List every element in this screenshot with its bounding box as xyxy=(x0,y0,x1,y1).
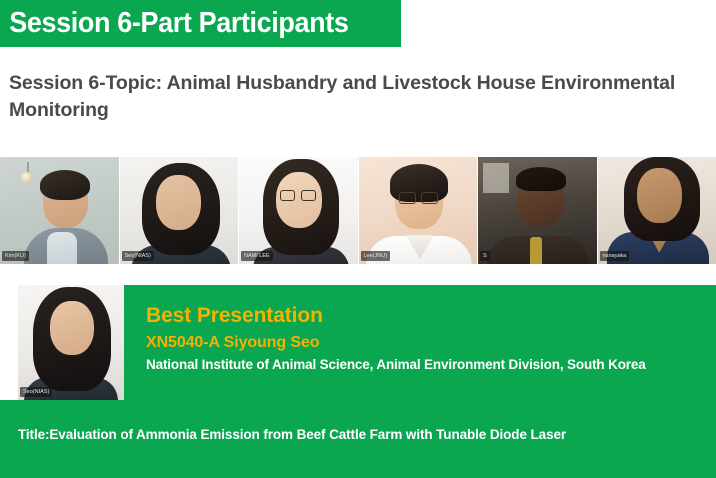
award-text-block: Best Presentation XN5040-A Siyoung Seo N… xyxy=(146,302,706,375)
headset-band xyxy=(154,173,208,187)
person-hair xyxy=(516,167,566,191)
eyeglass-left xyxy=(399,192,416,204)
participant-name-tag: Kim(KU) xyxy=(2,251,29,261)
winner-name-tag: Seo(NIAS) xyxy=(20,387,52,397)
participant-tile[interactable]: Seo(NIAS) xyxy=(120,157,239,264)
eyeglass-left xyxy=(280,190,295,201)
slide-canvas: Session 6-Part Participants Session 6-To… xyxy=(0,0,716,478)
participant-tile[interactable]: S xyxy=(478,157,597,264)
participant-tile[interactable]: Kim(KU) xyxy=(0,157,119,264)
award-presenter: XN5040-A Siyoung Seo xyxy=(146,331,706,354)
person-hair xyxy=(40,170,90,200)
eyeglass-right xyxy=(301,190,316,201)
session-topic-subtitle: Session 6-Topic: Animal Husbandry and Li… xyxy=(9,70,699,124)
participant-name-tag: NAMI LEE xyxy=(241,251,273,261)
window-light xyxy=(483,163,509,193)
headset-band xyxy=(47,299,101,314)
necktie xyxy=(530,237,542,264)
participant-name-tag: nanayaka xyxy=(600,251,630,261)
participant-tile[interactable]: NAMI LEE xyxy=(239,157,358,264)
participant-tile[interactable]: Lee(JNU) xyxy=(359,157,478,264)
paper-title: Title:Evaluation of Ammonia Emission fro… xyxy=(18,425,708,445)
eyeglass-right xyxy=(421,192,438,204)
participant-name-tag: S xyxy=(480,251,490,261)
header-banner: Session 6-Part Participants xyxy=(0,0,401,47)
participant-name-tag: Lee(JNU) xyxy=(361,251,391,261)
participant-name-tag: Seo(NIAS) xyxy=(122,251,154,261)
participant-tile[interactable]: nanayaka xyxy=(598,157,716,264)
participant-video-strip: Kim(KU) Seo(NIAS) NAMI LEE xyxy=(0,157,716,264)
banner-title: Session 6-Part Participants xyxy=(0,7,349,40)
person-head xyxy=(637,168,682,223)
award-affiliation: National Institute of Animal Science, An… xyxy=(146,355,706,375)
winner-photo[interactable]: Seo(NIAS) xyxy=(18,285,124,400)
person-shirt xyxy=(47,232,77,264)
award-heading: Best Presentation xyxy=(146,302,706,330)
